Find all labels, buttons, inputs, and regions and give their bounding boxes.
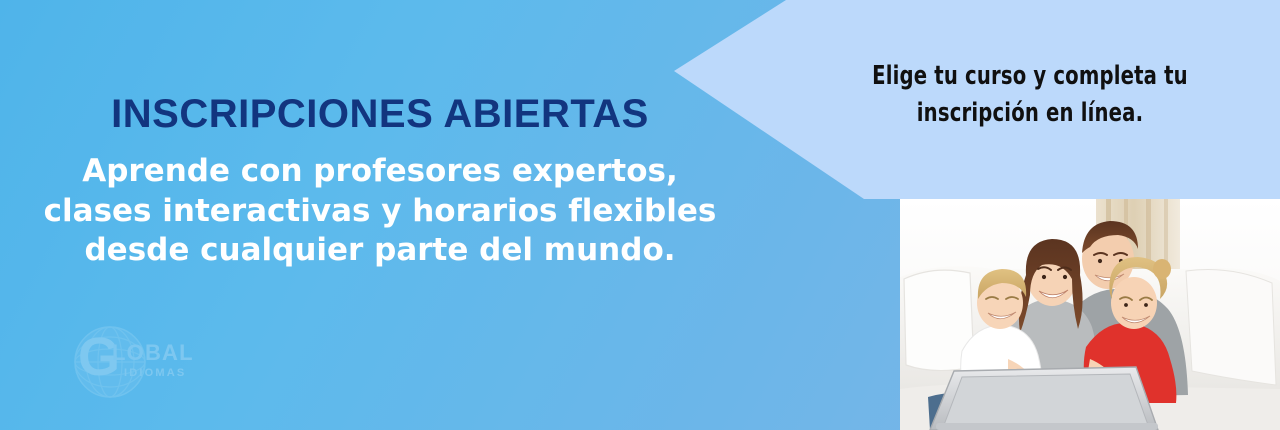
subheadline-text: Aprende con profesores expertos, clases …	[40, 152, 720, 271]
right-text-column: Elige tu curso y completa tu inscripción…	[800, 58, 1260, 132]
photo-container	[900, 199, 1280, 430]
page-title: INSCRIPCIONES ABIERTAS	[0, 92, 760, 137]
family-photo	[900, 199, 1280, 430]
promo-banner: INSCRIPCIONES ABIERTAS Aprende con profe…	[0, 0, 1280, 430]
cta-headline: Elige tu curso y completa tu inscripción…	[837, 58, 1223, 132]
left-text-column: INSCRIPCIONES ABIERTAS Aprende con profe…	[0, 0, 760, 430]
